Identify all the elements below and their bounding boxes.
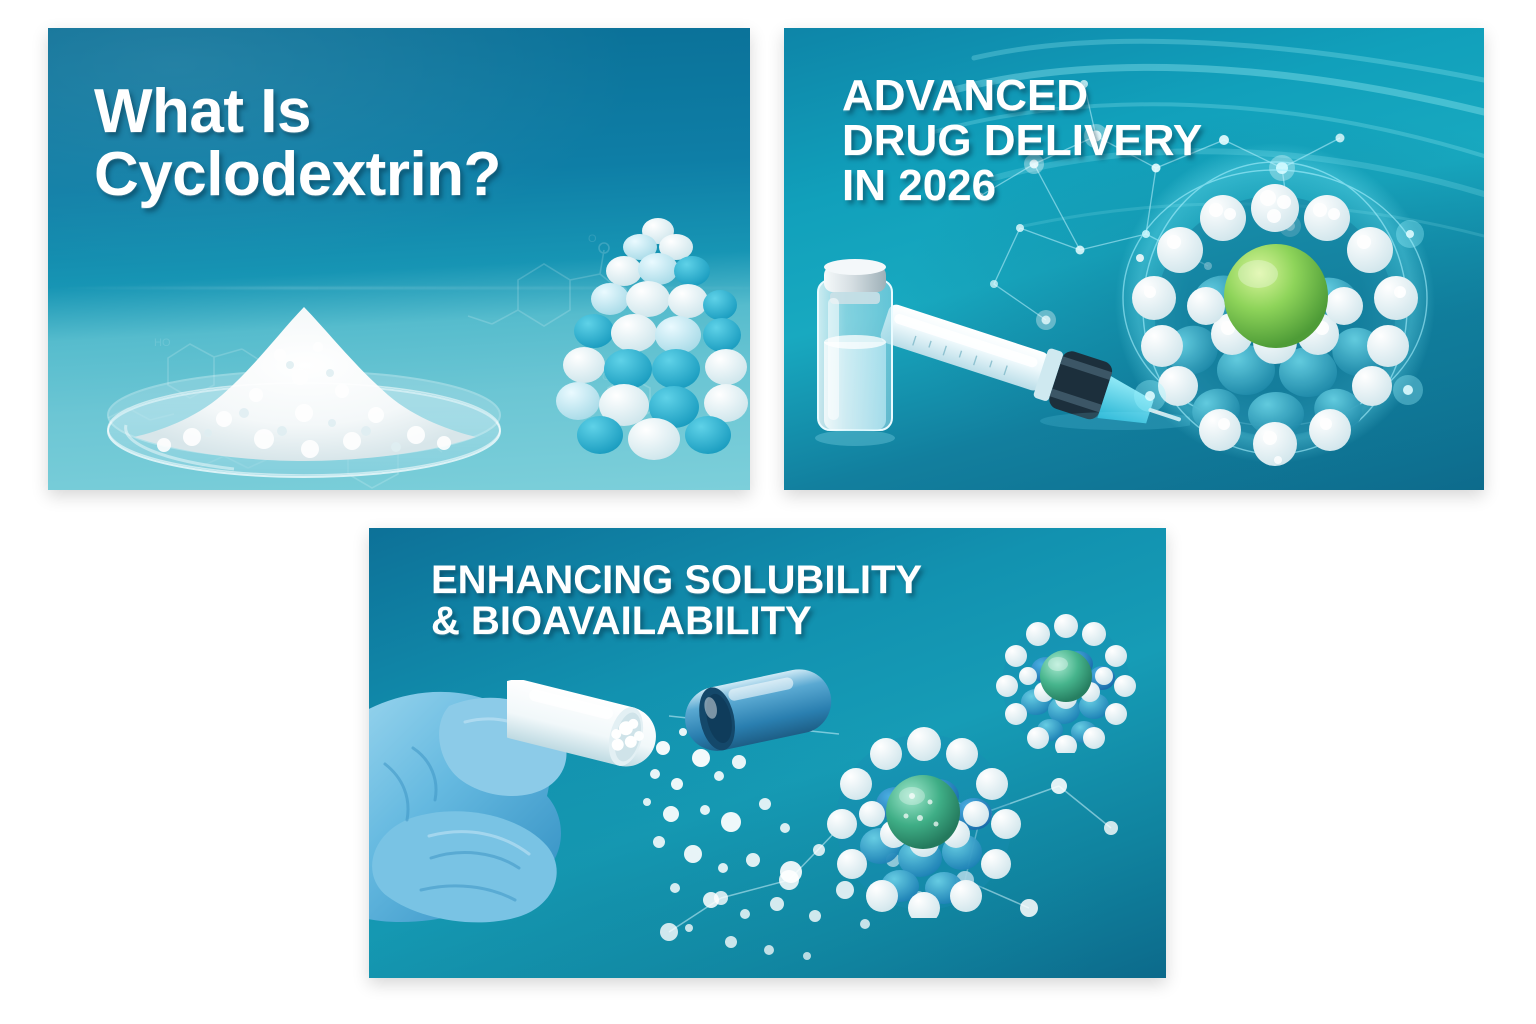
panel-enhancing-solubility[interactable]: ENHANCING SOLUBILITY & BIOAVAILABILITY <box>369 528 1166 978</box>
glass-vial <box>802 246 907 446</box>
petri-dish-with-powder <box>104 303 504 481</box>
panel-advanced-drug-delivery[interactable]: ADVANCED DRUG DELIVERY IN 2026 <box>784 28 1484 490</box>
cyclodextrin-cage-molecule <box>994 608 1139 753</box>
panel-3-title: ENHANCING SOLUBILITY & BIOAVAILABILITY <box>431 560 922 642</box>
panel-1-title: What Is Cyclodextrin? <box>94 80 501 206</box>
image-collage: OH HOOH HOO OH <box>0 0 1536 1024</box>
panel-what-is-cyclodextrin[interactable]: OH HOOH HOO OH <box>48 28 750 490</box>
panel-2-title: ADVANCED DRUG DELIVERY IN 2026 <box>842 74 1202 209</box>
pill-pyramid <box>554 213 750 463</box>
